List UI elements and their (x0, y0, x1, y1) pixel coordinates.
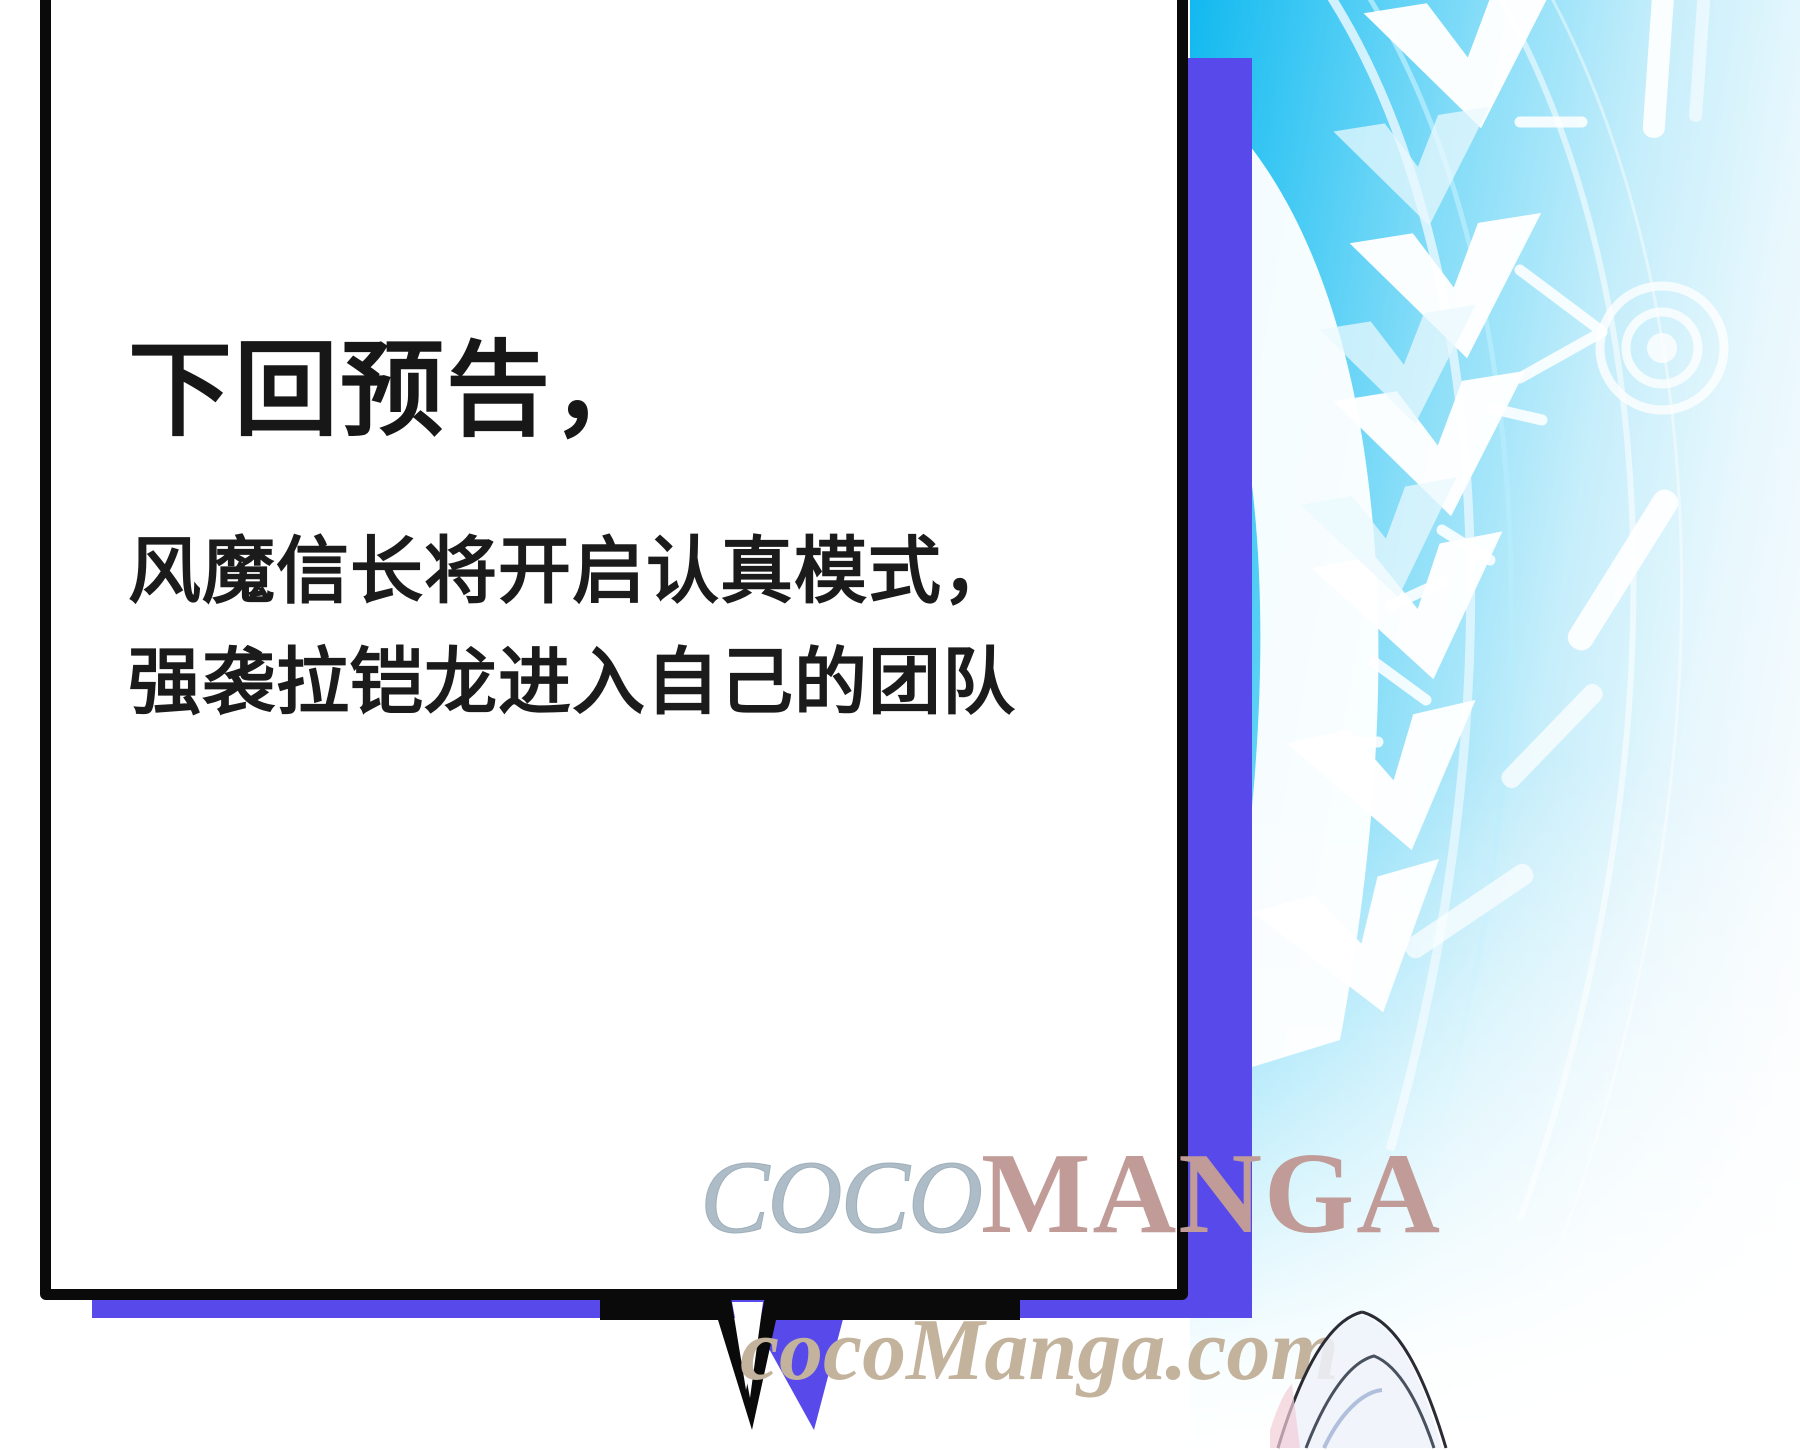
background-artwork (1190, 0, 1800, 1450)
background-bottom-fade (1190, 0, 1800, 1450)
manga-page: 下回预告， 风魔信长将开启认真模式， 强袭拉铠龙进入自己的团队 COCOMANG… (0, 0, 1800, 1450)
preview-body-line-2: 强袭拉铠龙进入自己的团队 (128, 628, 1028, 739)
character-sketch (1270, 1310, 1490, 1450)
bubble-text-block: 下回预告， 风魔信长将开启认真模式， 强袭拉铠龙进入自己的团队 (128, 330, 1028, 739)
preview-headline: 下回预告， (128, 330, 1028, 453)
speech-bubble-tail (600, 1280, 1020, 1450)
preview-body-line-1: 风魔信长将开启认真模式， (128, 517, 1028, 628)
